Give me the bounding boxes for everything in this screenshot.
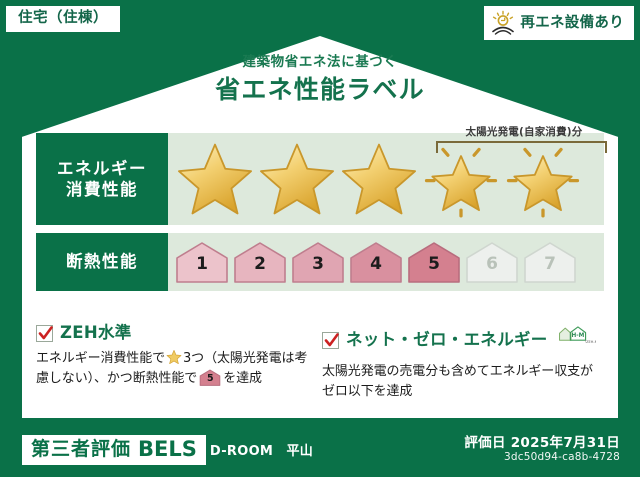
star-icon-solar xyxy=(502,138,584,220)
net-zero-energy-note: ネット・ゼロ・エネルギー H-M 「ZEH-M」 太陽光発電の売電分も含めてエネ… xyxy=(322,325,608,402)
checkbox-checked xyxy=(36,325,53,342)
page-title: 省エネ性能ラベル xyxy=(0,76,640,104)
star-icon-solar xyxy=(420,138,502,220)
svg-text:「ZEH-M」: 「ZEH-M」 xyxy=(582,339,596,344)
zeh-m-house-logo: H-M 「ZEH-M」 xyxy=(557,325,596,355)
insulation-grade-1-value: 1 xyxy=(174,256,230,273)
zeh-standard-title: ZEH水準 xyxy=(60,325,132,342)
insulation-grade-6: 6 xyxy=(464,241,520,283)
net-zero-energy-note-head: ネット・ゼロ・エネルギー H-M 「ZEH-M」 xyxy=(322,325,596,355)
insulation-grade-6-value: 6 xyxy=(464,256,520,273)
net-zero-energy-title: ネット・ゼロ・エネルギー xyxy=(346,332,548,349)
check-icon xyxy=(323,331,340,350)
zeh-body-part1: エネルギー消費性能で xyxy=(36,351,165,366)
svg-text:H-M: H-M xyxy=(571,333,584,339)
insulation-performance-row: 断熱性能 1 2 3 4 5 xyxy=(36,233,604,291)
net-zero-energy-body: 太陽光発電の売電分も含めてエネルギー収支がゼロ以下を達成 xyxy=(322,362,596,402)
star-icon xyxy=(338,138,420,220)
performance-rows: エネルギー 消費性能 太陽光発電(自家消費)分 xyxy=(36,133,604,299)
housing-type-badge: 住宅（住棟） xyxy=(6,6,120,32)
insulation-grade-2: 2 xyxy=(232,241,288,283)
check-icon xyxy=(37,324,54,343)
footer-bar: 第三者評価 BELS D-ROOM 平山 評価日 2025年7月31日 3dc5… xyxy=(0,422,640,477)
label-subtitle: 建築物省エネ法に基づく xyxy=(0,55,640,70)
evaluation-info: 評価日 2025年7月31日 3dc50d94-ca8b-4728 xyxy=(464,435,620,465)
achievement-notes: ZEH水準 エネルギー消費性能で3つ（太陽光発電は考慮しない）、かつ断熱性能で5… xyxy=(36,325,608,402)
insulation-grade-5: 5 xyxy=(406,241,462,283)
insulation-performance-label: 断熱性能 xyxy=(36,233,168,291)
star-icon-inline xyxy=(166,349,182,365)
zeh-standard-note: ZEH水準 エネルギー消費性能で3つ（太陽光発電は考慮しない）、かつ断熱性能で5… xyxy=(36,325,322,402)
evaluation-id: 3dc50d94-ca8b-4728 xyxy=(464,451,620,465)
checkbox-checked xyxy=(322,332,339,349)
zeh-standard-body: エネルギー消費性能で3つ（太陽光発電は考慮しない）、かつ断熱性能で5を達成 xyxy=(36,349,310,389)
insulation-grade-scale: 1 2 3 4 5 6 7 xyxy=(168,233,604,291)
star-icon xyxy=(256,138,338,220)
energy-star-rating: 太陽光発電(自家消費)分 xyxy=(168,133,604,225)
building-name: D-ROOM 平山 xyxy=(210,440,313,459)
zeh-standard-note-head: ZEH水準 xyxy=(36,325,310,342)
insulation-grade-2-value: 2 xyxy=(232,256,288,273)
insulation-grade-7: 7 xyxy=(522,241,578,283)
insulation-label-text: 断熱性能 xyxy=(66,251,138,272)
insulation-grade-7-value: 7 xyxy=(522,256,578,273)
energy-label-line1: エネルギー xyxy=(57,158,147,179)
renewable-equipment-badge: 再エネ設備あり xyxy=(484,6,634,40)
insulation-grade-3: 3 xyxy=(290,241,346,283)
sun-icon xyxy=(490,10,516,36)
bels-certification-badge: 第三者評価 BELS xyxy=(22,435,206,465)
insulation-grade-4-value: 4 xyxy=(348,256,404,273)
insulation-grade-3-value: 3 xyxy=(290,256,346,273)
energy-performance-label: エネルギー 消費性能 xyxy=(36,133,168,225)
zeh-body-part3: を達成 xyxy=(223,371,262,386)
insulation-grade-4: 4 xyxy=(348,241,404,283)
energy-performance-row: エネルギー 消費性能 太陽光発電(自家消費)分 xyxy=(36,133,604,225)
evaluation-date: 評価日 2025年7月31日 xyxy=(464,435,620,451)
label-title-block: 建築物省エネ法に基づく 省エネ性能ラベル xyxy=(0,55,640,103)
insulation-grade-5-value: 5 xyxy=(406,256,462,273)
insulation-grade-1: 1 xyxy=(174,241,230,283)
renewable-equipment-label: 再エネ設備あり xyxy=(520,16,624,31)
energy-label-line2: 消費性能 xyxy=(66,179,138,200)
bels-en-label: BELS xyxy=(138,439,197,460)
house-badge-inline-value: 5 xyxy=(199,374,221,384)
bels-jp-label: 第三者評価 xyxy=(31,440,131,459)
housing-type-label: 住宅（住棟） xyxy=(18,11,108,26)
solar-bracket-label: 太陽光発電(自家消費)分 xyxy=(426,124,622,139)
house-badge-inline: 5 xyxy=(199,369,221,386)
star-icon xyxy=(174,138,256,220)
